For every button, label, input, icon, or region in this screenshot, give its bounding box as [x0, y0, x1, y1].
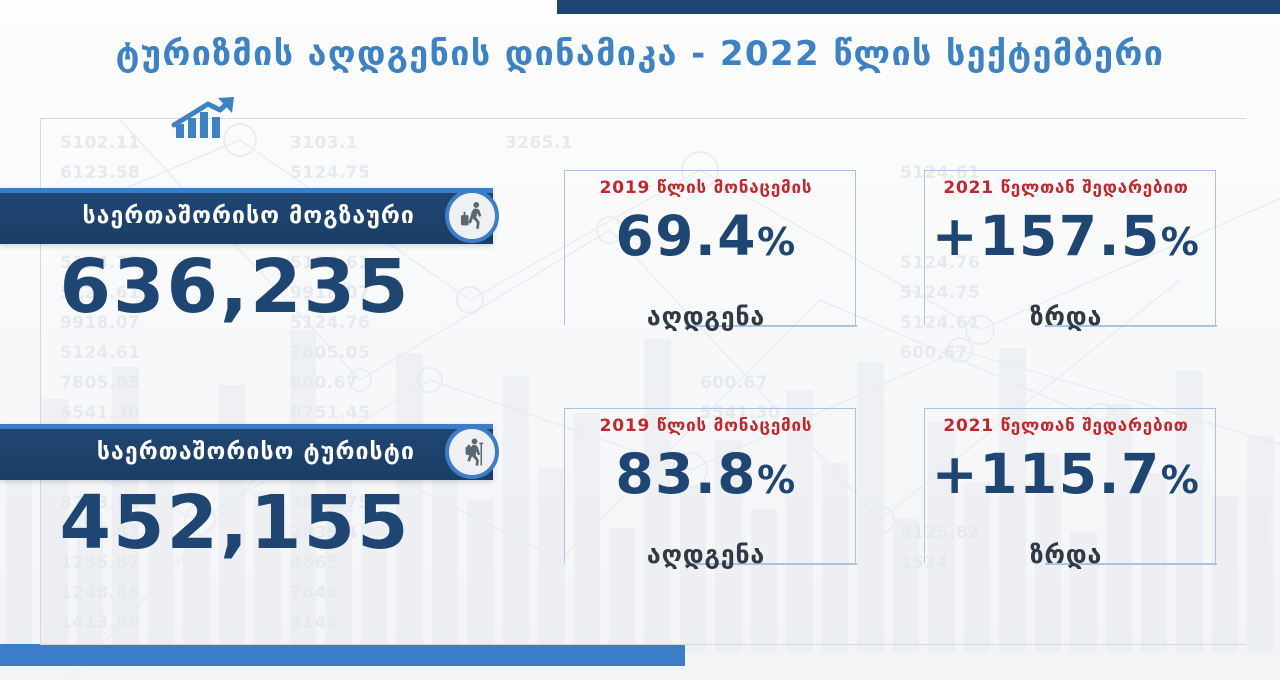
- traveler-luggage-glyph: [455, 199, 489, 233]
- hiker-backpack-glyph: [455, 435, 489, 469]
- stat-unit: %: [1161, 458, 1201, 502]
- stat-unit: %: [1161, 220, 1201, 264]
- stat-value: 69.4%: [556, 206, 856, 267]
- divider-line-left: [40, 118, 145, 119]
- stat-value: +157.5%: [916, 206, 1216, 267]
- stat-growth-tourist: 2021 წელთან შედარებით +115.7% ზრდა: [916, 408, 1216, 573]
- top-accent-bar: [557, 0, 1280, 14]
- metric-row-tourist: საერთაშორისო ტურისტი 452,155: [0, 424, 493, 480]
- stat-footer: ზრდა: [916, 540, 1216, 569]
- stat-footer: ზრდა: [916, 302, 1216, 331]
- stat-heading: 2019 წლის მონაცემის: [556, 416, 856, 436]
- stat-number: 69.4: [615, 204, 757, 268]
- stat-heading: 2019 წლის მონაცემის: [556, 178, 856, 198]
- metric-label: საერთაშორისო მოგზაური: [82, 203, 415, 229]
- stat-number: +115.7: [932, 442, 1161, 506]
- stat-recovery-tourist: 2019 წლის მონაცემის 83.8% აღდგენა: [556, 408, 856, 573]
- traveler-luggage-icon: [445, 189, 499, 243]
- metric-banner-traveler[interactable]: საერთაშორისო მოგზაური: [0, 188, 493, 244]
- stat-unit: %: [757, 220, 797, 264]
- stat-heading: 2021 წელთან შედარებით: [916, 178, 1216, 198]
- metric-banner-tourist[interactable]: საერთაშორისო ტურისტი: [0, 424, 493, 480]
- title-divider: [40, 118, 1245, 119]
- infographic-canvas: 5102.11 3103.1 3265.1 6123.58 5124.75 51…: [0, 0, 1280, 680]
- metric-value: 452,155: [0, 486, 470, 560]
- stat-heading: 2021 წელთან შედარებით: [916, 416, 1216, 436]
- stat-number: 83.8: [615, 442, 757, 506]
- stat-recovery-traveler: 2019 წლის მონაცემის 69.4% აღდგენა: [556, 170, 856, 335]
- metric-label: საერთაშორისო ტურისტი: [97, 439, 415, 465]
- stat-value: +115.7%: [916, 444, 1216, 505]
- metric-value: 636,235: [0, 250, 470, 324]
- stat-footer: აღდგენა: [556, 302, 856, 331]
- stat-footer: აღდგენა: [556, 540, 856, 569]
- hiker-backpack-icon: [445, 425, 499, 479]
- metric-row-traveler: საერთაშორისო მოგზაური 636,235: [0, 188, 493, 244]
- page-title: ტურიზმის აღდგენის დინამიკა - 2022 წლის ს…: [0, 34, 1280, 74]
- stat-growth-traveler: 2021 წელთან შედარებით +157.5% ზრდა: [916, 170, 1216, 335]
- stat-value: 83.8%: [556, 444, 856, 505]
- bar-chart-growth-icon: [158, 92, 258, 144]
- bottom-accent-bar: [0, 644, 685, 666]
- divider-line-right: [270, 118, 1245, 119]
- stat-unit: %: [757, 458, 797, 502]
- stat-number: +157.5: [932, 204, 1161, 268]
